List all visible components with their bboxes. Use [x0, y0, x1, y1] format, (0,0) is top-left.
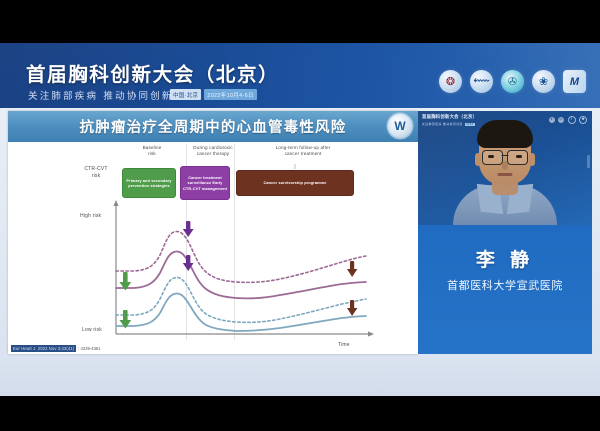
- speaker-organization: 首都医科大学宣武医院: [418, 277, 592, 293]
- speaker-video-feed[interactable]: 首届胸科创新大会（北京） 关注肺部疾病 推动协同创新2022 ● ▭ ⌇ ✺: [418, 111, 592, 225]
- stage-bottom-strip: [0, 354, 600, 396]
- conference-title: 首届胸科创新大会（北京）: [26, 58, 279, 87]
- mic-icon[interactable]: ⌇: [568, 116, 576, 124]
- logo-medical-icon: M: [563, 70, 586, 93]
- conference-logo-row: ❂ ⬳ ✇ ❀ M: [439, 70, 586, 93]
- chart-axes: [113, 200, 374, 337]
- video-edge-marker: [587, 155, 590, 168]
- conference-slogan: 关注肺部疾病 推动协同创新: [28, 88, 174, 102]
- slide-title: 抗肿瘤治疗全周期中的心血管毒性风险: [8, 116, 418, 137]
- slide-body: Baseline risk During cardiotoxic cancer …: [8, 142, 418, 354]
- speaker-portrait: [453, 121, 557, 225]
- screenshot-root: 首届胸科创新大会（北京） 关注肺部疾病 推动协同创新 中国·北京 2022年10…: [0, 0, 600, 431]
- speaker-ear-left: [475, 153, 481, 166]
- conference-meta: 中国·北京 2022年10月4-6日: [170, 89, 257, 100]
- speaker-name: 李 静: [418, 245, 592, 272]
- speaker-eye-right: [516, 155, 522, 158]
- risk-chart: [8, 142, 418, 354]
- curve-low-risk-dotted: [116, 277, 366, 322]
- letterbox-bottom: [0, 396, 600, 431]
- speaker-nose: [502, 161, 508, 170]
- speaker-head: [479, 123, 531, 185]
- arrow-brown-upper: [347, 261, 357, 277]
- slide-org-logo-icon: W: [388, 114, 412, 138]
- citation-highlight: Eur Heart J. 2022 Nov 3;43(41): [11, 345, 76, 352]
- letterbox-top: [0, 0, 600, 43]
- logo-cma-icon: ❂: [439, 70, 462, 93]
- speaker-hair: [477, 120, 533, 148]
- arrow-purple-upper: [183, 221, 194, 237]
- slide-citation: Eur Heart J. 2022 Nov 3;43(41) : 4229-43…: [11, 345, 101, 352]
- speaker-ear-right: [529, 153, 535, 166]
- speaker-panel: 首届胸科创新大会（北京） 关注肺部疾病 推动协同创新2022 ● ▭ ⌇ ✺: [418, 111, 592, 354]
- curve-high-risk-solid: [116, 251, 366, 298]
- speaker-mouth: [498, 173, 513, 176]
- slide-panel: 抗肿瘤治疗全周期中的心血管毒性风险 W Baseline risk During…: [8, 111, 418, 354]
- logo-thoracic-icon: ⬳: [470, 70, 493, 93]
- logo-association-icon: ❀: [532, 70, 555, 93]
- citation-rest: : 4229-4361: [78, 346, 100, 351]
- mini-banner-title: 首届胸科创新大会（北京）: [422, 114, 477, 120]
- camera-icon[interactable]: ▭: [558, 117, 564, 123]
- curve-high-risk-dotted: [116, 231, 366, 282]
- logo-health-icon: ✇: [501, 70, 524, 93]
- glasses-bridge: [502, 155, 509, 156]
- speaker-eye-left: [488, 155, 494, 158]
- settings-icon[interactable]: ✺: [579, 116, 587, 124]
- conference-meta-date: 中国·北京: [170, 89, 201, 100]
- conference-meta-detail: 2022年10月4-6日: [204, 89, 256, 100]
